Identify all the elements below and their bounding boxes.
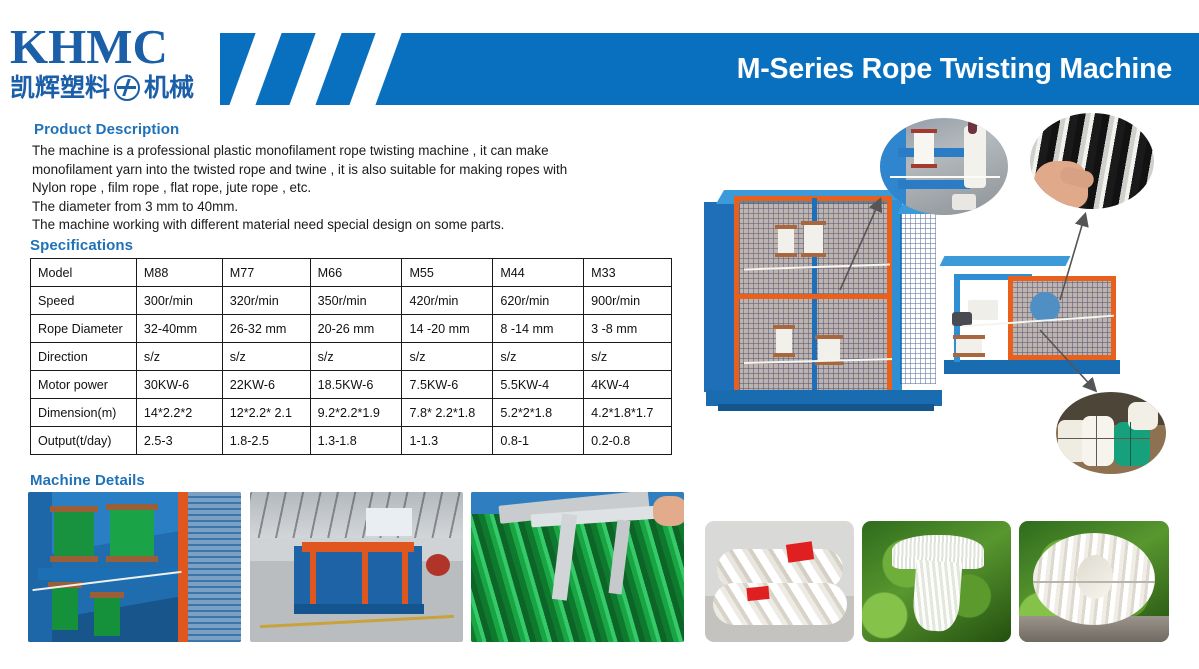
table-cell: 1.8-2.5 xyxy=(222,427,310,455)
detail-caliper-measuring-rope xyxy=(471,492,684,642)
row-label: Output(t/day) xyxy=(31,427,137,455)
table-cell: M33 xyxy=(584,259,672,287)
specifications-heading: Specifications xyxy=(30,237,133,254)
table-row: Direction s/z s/z s/z s/z s/z s/z xyxy=(31,343,672,371)
description-line: Nylon rope , film rope , flat rope, jute… xyxy=(32,179,672,198)
band-stripe-3 xyxy=(345,33,406,105)
machine-details-heading: Machine Details xyxy=(30,472,145,489)
product-description-heading: Product Description xyxy=(34,121,179,138)
product-coiled-white-rope xyxy=(705,521,854,642)
description-line: monofilament yarn into the twisted rope … xyxy=(32,161,672,180)
table-row: Rope Diameter 32-40mm 26-32 mm 20-26 mm … xyxy=(31,315,672,343)
specifications-table: Model M88 M77 M66 M55 M44 M33 Speed 300r… xyxy=(30,258,672,455)
description-line: The machine working with different mater… xyxy=(32,216,672,235)
table-cell: M66 xyxy=(310,259,402,287)
product-rope-bale-on-grass xyxy=(1019,521,1169,642)
table-cell: 20-26 mm xyxy=(310,315,402,343)
logo-latin-text: KHMC xyxy=(10,22,225,72)
row-label: Speed xyxy=(31,287,137,315)
table-cell: M44 xyxy=(493,259,584,287)
logo-chinese-left: 凯辉塑料 xyxy=(10,74,110,102)
table-cell: 12*2.2* 2.1 xyxy=(222,399,310,427)
table-cell: 7.8* 2.2*1.8 xyxy=(402,399,493,427)
khmc-roundel-icon xyxy=(114,75,140,101)
table-cell: 620r/min xyxy=(493,287,584,315)
description-line: The diameter from 3 mm to 40mm. xyxy=(32,198,672,217)
band-stripe-1 xyxy=(225,33,286,105)
table-cell: 0.8-1 xyxy=(493,427,584,455)
table-cell: 320r/min xyxy=(222,287,310,315)
row-label: Motor power xyxy=(31,371,137,399)
table-cell: M55 xyxy=(402,259,493,287)
table-cell: 9.2*2.2*1.9 xyxy=(310,399,402,427)
detail-machines-in-workshop xyxy=(250,492,463,642)
table-cell: 26-32 mm xyxy=(222,315,310,343)
table-cell: 0.2-0.8 xyxy=(584,427,672,455)
detail-green-filament-bobbins xyxy=(28,492,241,642)
table-cell: 350r/min xyxy=(310,287,402,315)
table-cell: 1.3-1.8 xyxy=(310,427,402,455)
table-cell: M77 xyxy=(222,259,310,287)
callout-creel-spool-closeup-bubble xyxy=(880,118,1008,215)
table-cell: 14 -20 mm xyxy=(402,315,493,343)
table-row: Motor power 30KW-6 22KW-6 18.5KW-6 7.5KW… xyxy=(31,371,672,399)
table-cell: s/z xyxy=(136,343,222,371)
table-cell: 4KW-4 xyxy=(584,371,672,399)
table-cell: s/z xyxy=(402,343,493,371)
table-cell: 5.2*2*1.8 xyxy=(493,399,584,427)
table-cell: 14*2.2*2 xyxy=(136,399,222,427)
page-title: M-Series Rope Twisting Machine xyxy=(737,33,1172,105)
table-cell: 30KW-6 xyxy=(136,371,222,399)
company-logo: KHMC 凯辉塑料 机械 xyxy=(10,22,225,102)
table-row: Model M88 M77 M66 M55 M44 M33 xyxy=(31,259,672,287)
table-cell: 7.5KW-6 xyxy=(402,371,493,399)
table-cell: 5.5KW-4 xyxy=(493,371,584,399)
description-line: The machine is a professional plastic mo… xyxy=(32,142,672,161)
table-cell: 420r/min xyxy=(402,287,493,315)
table-cell: 900r/min xyxy=(584,287,672,315)
table-cell: 3 -8 mm xyxy=(584,315,672,343)
table-cell: 8 -14 mm xyxy=(493,315,584,343)
table-cell: s/z xyxy=(493,343,584,371)
table-row: Dimension(m) 14*2.2*2 12*2.2* 2.1 9.2*2.… xyxy=(31,399,672,427)
table-cell: 32-40mm xyxy=(136,315,222,343)
table-row: Output(t/day) 2.5-3 1.8-2.5 1.3-1.8 1-1.… xyxy=(31,427,672,455)
product-datasheet-page: KHMC 凯辉塑料 机械 M-Series Rope Twisting Mach… xyxy=(0,0,1199,669)
header-blue-band: M-Series Rope Twisting Machine xyxy=(220,33,1199,105)
logo-chinese-lockup: 凯辉塑料 机械 xyxy=(10,73,225,103)
row-label: Direction xyxy=(31,343,137,371)
table-cell: s/z xyxy=(310,343,402,371)
table-cell: M88 xyxy=(136,259,222,287)
table-cell: 18.5KW-6 xyxy=(310,371,402,399)
table-cell: s/z xyxy=(584,343,672,371)
product-description-body: The machine is a professional plastic mo… xyxy=(32,142,672,235)
table-cell: s/z xyxy=(222,343,310,371)
table-cell: 22KW-6 xyxy=(222,371,310,399)
product-white-monofilament-tuft xyxy=(862,521,1011,642)
table-cell: 4.2*1.8*1.7 xyxy=(584,399,672,427)
table-row: Speed 300r/min 320r/min 350r/min 420r/mi… xyxy=(31,287,672,315)
table-cell: 300r/min xyxy=(136,287,222,315)
logo-chinese-right: 机械 xyxy=(144,74,194,102)
callout-hand-holding-rope-bubble xyxy=(1030,113,1154,209)
table-cell: 2.5-3 xyxy=(136,427,222,455)
band-stripe-2 xyxy=(285,33,346,105)
row-label: Rope Diameter xyxy=(31,315,137,343)
row-label: Model xyxy=(31,259,137,287)
callout-rope-bales-bubble xyxy=(1056,392,1166,474)
row-label: Dimension(m) xyxy=(31,399,137,427)
table-cell: 1-1.3 xyxy=(402,427,493,455)
page-header: KHMC 凯辉塑料 机械 M-Series Rope Twisting Mach… xyxy=(0,0,1199,112)
